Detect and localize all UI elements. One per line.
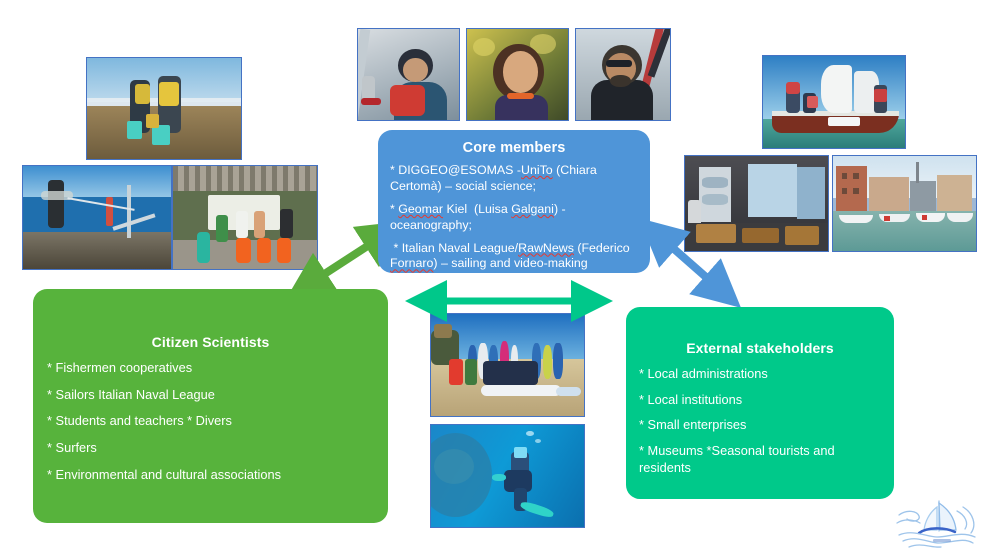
external-stakeholders-title: External stakeholders	[639, 340, 881, 356]
sailboat-waves-logo	[893, 497, 981, 551]
photo-portrait-core-member-3	[575, 28, 671, 121]
core-members-item-text: * Italian Naval League/RawNews (Federico…	[390, 241, 630, 271]
spellcheck-rawnews: RawNews	[518, 241, 574, 255]
external-stakeholders-item: * Small enterprises	[639, 417, 881, 434]
photo-beach-cleanup-volunteers	[86, 57, 242, 160]
citizen-scientists-title: Citizen Scientists	[47, 334, 374, 350]
core-members-item-text: * DIGGEO@ESOMAS -UniTo (Chiara Certomà) …	[390, 163, 597, 193]
photo-fisherman-net-boat	[22, 165, 172, 270]
external-stakeholders-item: * Local administrations	[639, 366, 881, 383]
external-stakeholders-box: External stakeholders * Local administra…	[626, 307, 894, 499]
external-stakeholders-item: * Local institutions	[639, 392, 881, 409]
external-stakeholders-item: * Museums *Seasonal tourists and residen…	[639, 443, 881, 476]
core-members-item: * Italian Naval League/RawNews (Federico…	[390, 241, 638, 273]
citizen-scientists-item: * Students and teachers * Divers	[47, 413, 374, 430]
core-members-item-text: * Geomar Kiel (Luisa Galgani) - oceanogr…	[390, 202, 566, 232]
spellcheck-geomar: Geomar	[398, 202, 443, 216]
citizen-scientists-box: Citizen Scientists * Fishermen cooperati…	[33, 289, 388, 523]
core-members-item: * DIGGEO@ESOMAS -UniTo (Chiara Certomà) …	[390, 163, 638, 195]
core-members-box: Core members * DIGGEO@ESOMAS -UniTo (Chi…	[378, 130, 650, 273]
photo-portrait-core-member-2	[466, 28, 569, 121]
core-members-item: * Geomar Kiel (Luisa Galgani) - oceanogr…	[390, 202, 638, 234]
spellcheck-unito: UniTo	[521, 163, 553, 177]
spellcheck-fornaro: Fornaro	[390, 256, 433, 270]
citizen-scientists-item: * Environmental and cultural association…	[47, 467, 374, 484]
diagram-canvas: Core members * DIGGEO@ESOMAS -UniTo (Chi…	[0, 0, 983, 553]
photo-scuba-diver-underwater	[430, 424, 585, 528]
photo-surfers-boards-beach	[430, 313, 585, 417]
photo-harbour-buildings-boats	[832, 155, 977, 252]
citizen-scientists-item: * Fishermen cooperatives	[47, 360, 374, 377]
citizen-scientists-item: * Sailors Italian Naval League	[47, 387, 374, 404]
core-members-title: Core members	[390, 140, 638, 156]
arrow-citizen-to-stakeholders	[416, 290, 602, 312]
photo-portrait-core-member-1	[357, 28, 460, 121]
photo-sailing-boat-crew	[762, 55, 906, 149]
citizen-scientists-item: * Surfers	[47, 440, 374, 457]
spellcheck-galgani: Galgani	[511, 202, 554, 216]
arrow-core-to-stakeholders	[645, 222, 743, 306]
